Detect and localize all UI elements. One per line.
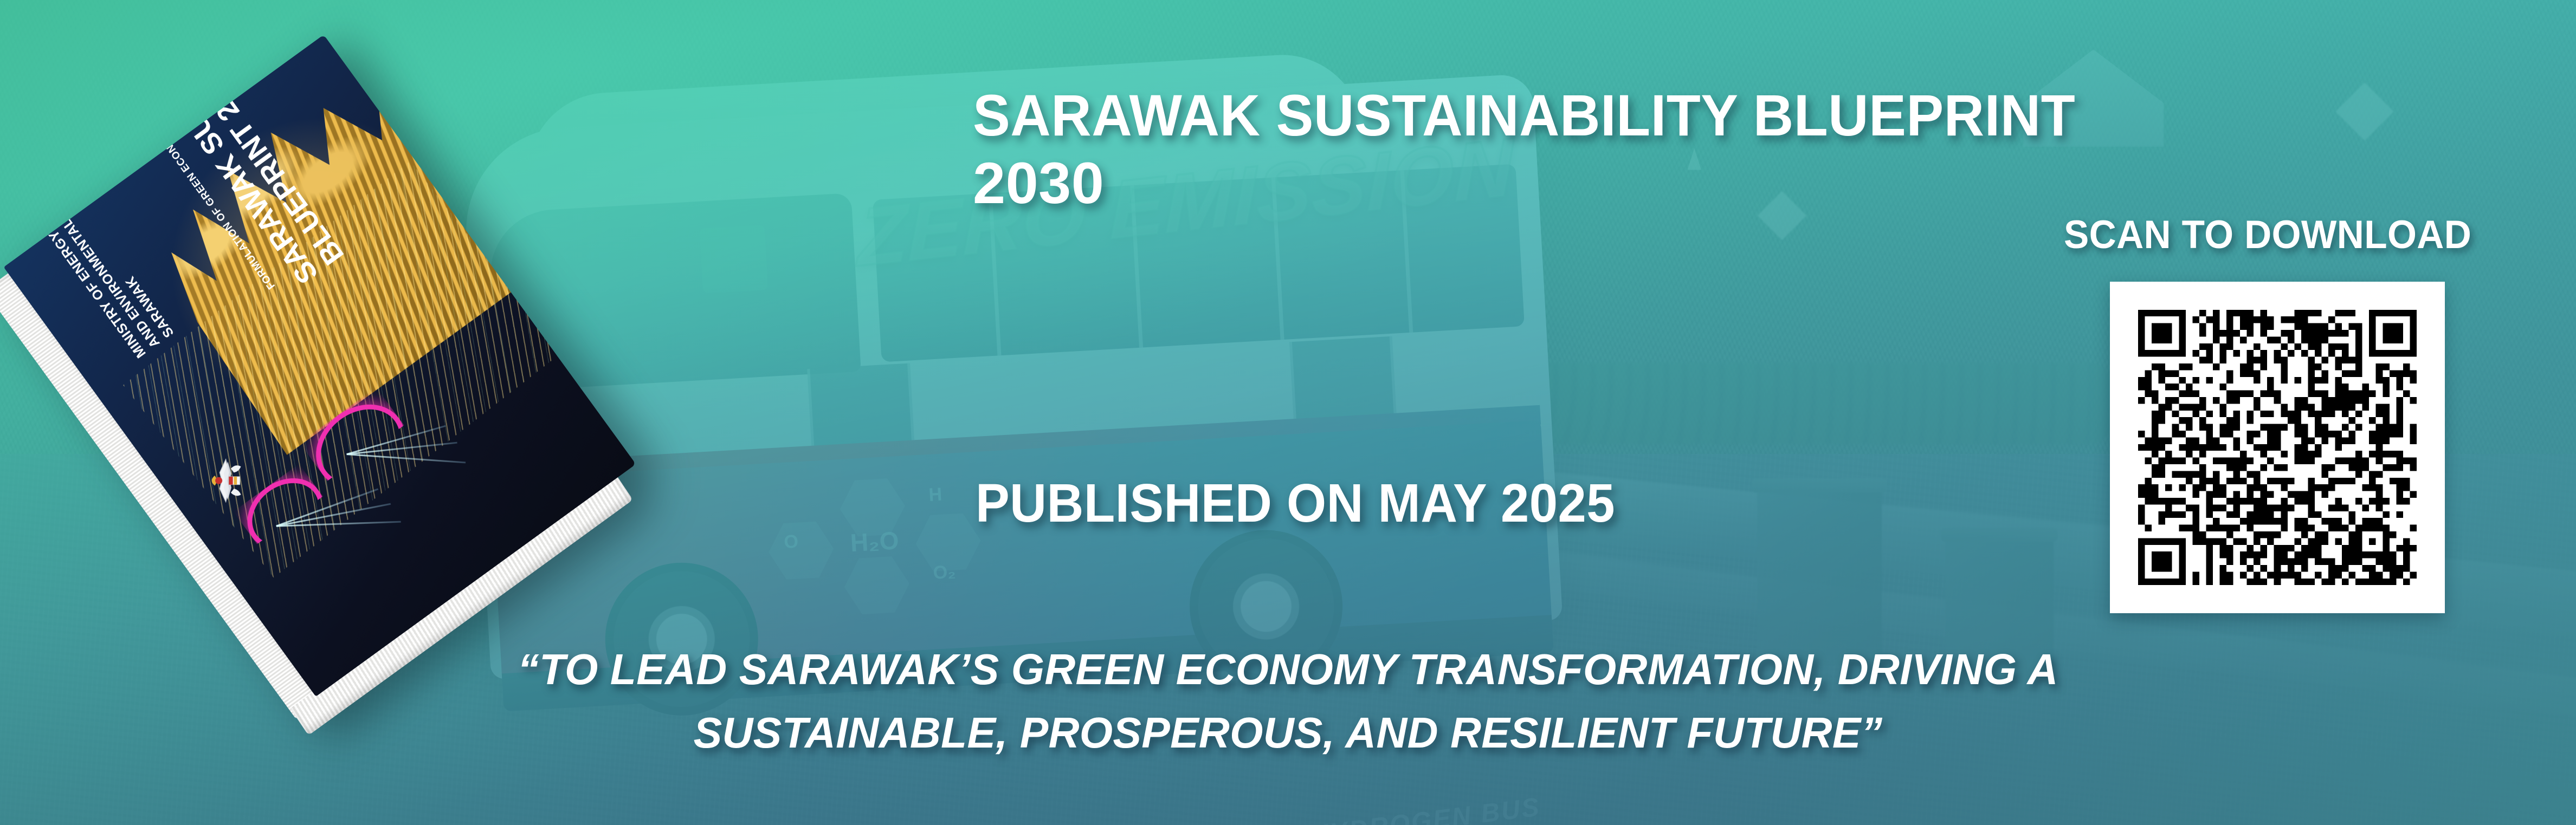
- scan-to-download-label: SCAN TO DOWNLOAD: [2064, 212, 2471, 257]
- vision-quote: “TO LEAD SARAWAK’S GREEN ECONOMY TRANSFO…: [0, 638, 2576, 765]
- quote-line-1: “TO LEAD SARAWAK’S GREEN ECONOMY TRANSFO…: [20, 638, 2557, 701]
- qr-code[interactable]: [2110, 282, 2445, 613]
- headline-line-2: 2030: [973, 149, 2339, 217]
- quote-line-2: SUSTAINABLE, PROSPEROUS, AND RESILIENT F…: [20, 701, 2557, 765]
- qr-code-canvas[interactable]: [2125, 296, 2430, 599]
- published-date: PUBLISHED ON MAY 2025: [976, 472, 1615, 535]
- page-title: SARAWAK SUSTAINABILITY BLUEPRINT 2030: [973, 81, 2339, 217]
- book-mockup: MINISTRY OF ENERGY AND ENVIRONMENTAL SUS…: [62, 51, 648, 680]
- headline-line-1: SARAWAK SUSTAINABILITY BLUEPRINT: [973, 81, 2277, 149]
- sustainability-blueprint-banner: H₂O O₂ O H HYDROGEN BUS ZERO EMISSION: [0, 0, 2576, 825]
- book-3d: MINISTRY OF ENERGY AND ENVIRONMENTAL SUS…: [4, 35, 636, 697]
- book-cover: MINISTRY OF ENERGY AND ENVIRONMENTAL SUS…: [4, 35, 636, 697]
